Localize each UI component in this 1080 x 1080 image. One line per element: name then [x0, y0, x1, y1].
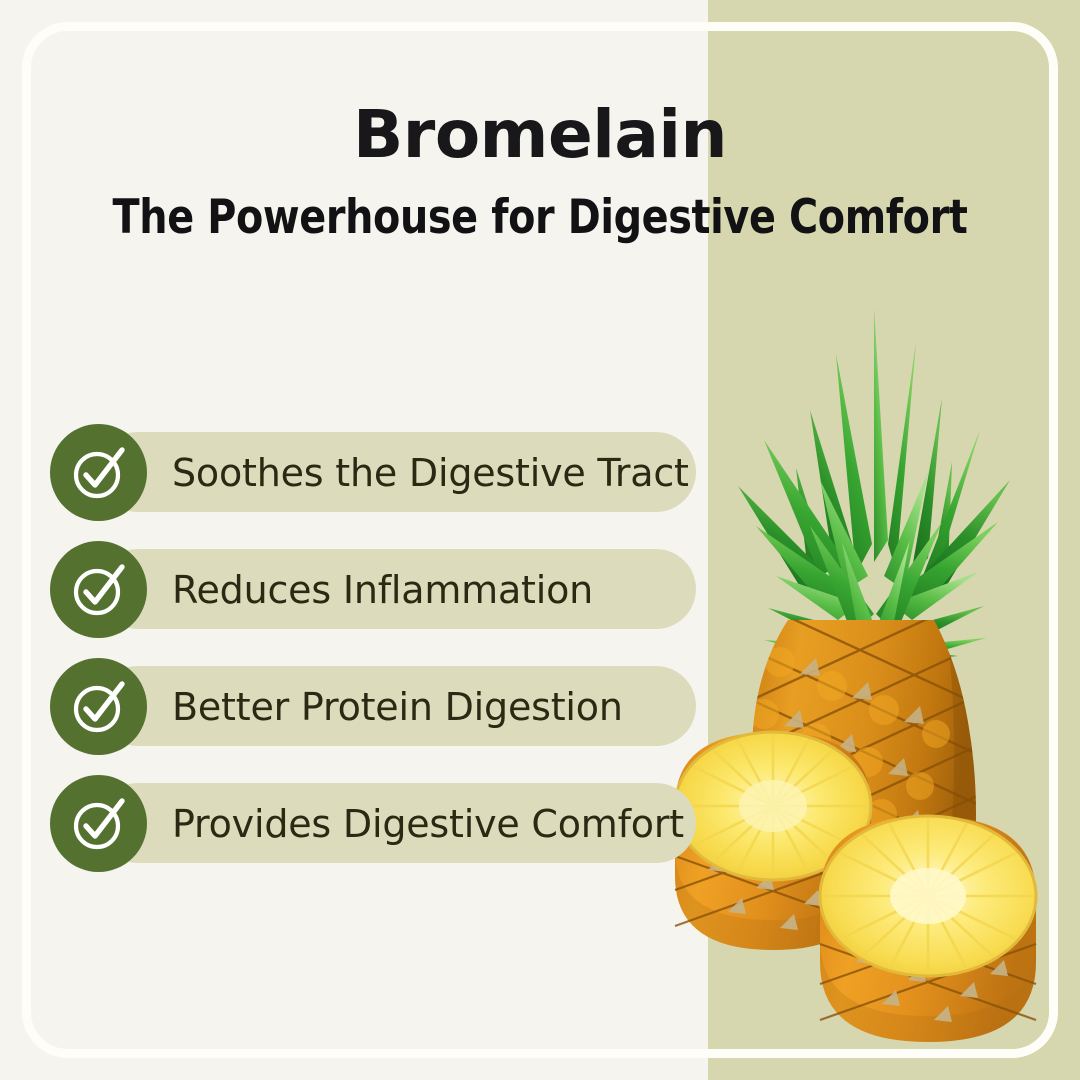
check-circle-icon [50, 541, 147, 638]
benefit-label: Better Protein Digestion [172, 658, 623, 755]
benefit-label: Reduces Inflammation [172, 541, 593, 638]
benefit-item: Soothes the Digestive Tract [50, 424, 710, 521]
check-circle-icon [50, 775, 147, 872]
benefit-item: Better Protein Digestion [50, 658, 710, 755]
benefit-item: Reduces Inflammation [50, 541, 710, 638]
page-title: Bromelain [0, 96, 1080, 174]
pineapple-illustration [660, 290, 1080, 1050]
benefit-item: Provides Digestive Comfort [50, 775, 710, 872]
page-subtitle: The Powerhouse for Digestive Comfort [32, 188, 1047, 248]
check-circle-icon [50, 424, 147, 521]
benefits-list: Soothes the Digestive Tract Reduces Infl… [50, 424, 710, 892]
benefit-label: Soothes the Digestive Tract [172, 424, 689, 521]
poster: Bromelain The Powerhouse for Digestive C… [0, 0, 1080, 1080]
benefit-label: Provides Digestive Comfort [172, 775, 684, 872]
check-circle-icon [50, 658, 147, 755]
header-block: Bromelain The Powerhouse for Digestive C… [0, 96, 1080, 248]
